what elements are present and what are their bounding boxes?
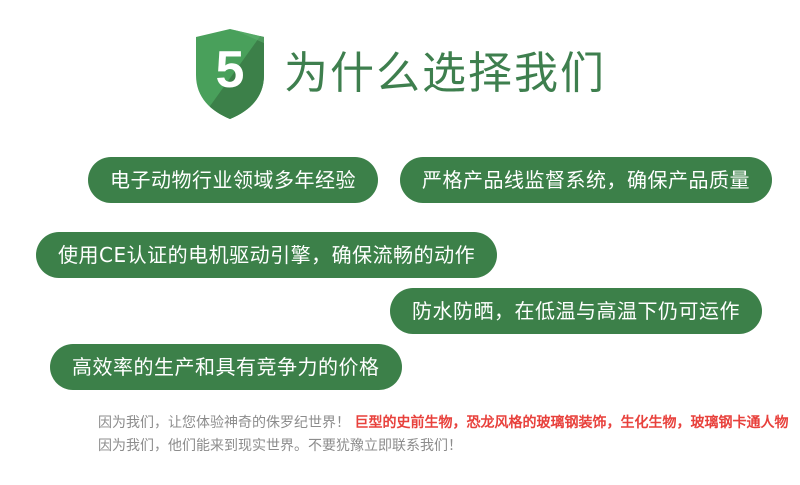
feature-pill-efficiency-price: 高效率的生产和具有竞争力的价格 <box>50 344 402 390</box>
footer-line-1: 因为我们，让您体验神奇的侏罗纪世界！ 巨型的史前生物，恐龙风格的玻璃钢装饰，生化… <box>98 412 758 435</box>
page-header: 5 为什么选择我们 <box>0 24 800 124</box>
page-title: 为什么选择我们 <box>284 52 606 96</box>
feature-pill-ce-motor: 使用CE认证的电机驱动引擎，确保流畅的动作 <box>36 232 497 278</box>
footer-line-2: 因为我们，他们能来到现实世界。不要犹豫立即联系我们！ <box>98 435 758 458</box>
badge-number: 5 <box>194 28 266 120</box>
shield-badge: 5 <box>194 28 266 120</box>
promo-banner: 5 为什么选择我们 电子动物行业领域多年经验 严格产品线监督系统，确保产品质量 … <box>0 0 800 485</box>
feature-pill-weatherproof: 防水防晒，在低温与高温下仍可运作 <box>390 288 762 334</box>
footer-line-1-highlight: 巨型的史前生物，恐龙风格的玻璃钢装饰，生化生物，玻璃钢卡通人物 <box>354 415 788 431</box>
feature-pill-quality-control: 严格产品线监督系统，确保产品质量 <box>400 157 772 203</box>
footer-line-1-plain: 因为我们，让您体验神奇的侏罗纪世界！ <box>98 415 350 431</box>
footer-copy: 因为我们，让您体验神奇的侏罗纪世界！ 巨型的史前生物，恐龙风格的玻璃钢装饰，生化… <box>98 412 758 458</box>
feature-pill-experience: 电子动物行业领域多年经验 <box>88 157 378 203</box>
